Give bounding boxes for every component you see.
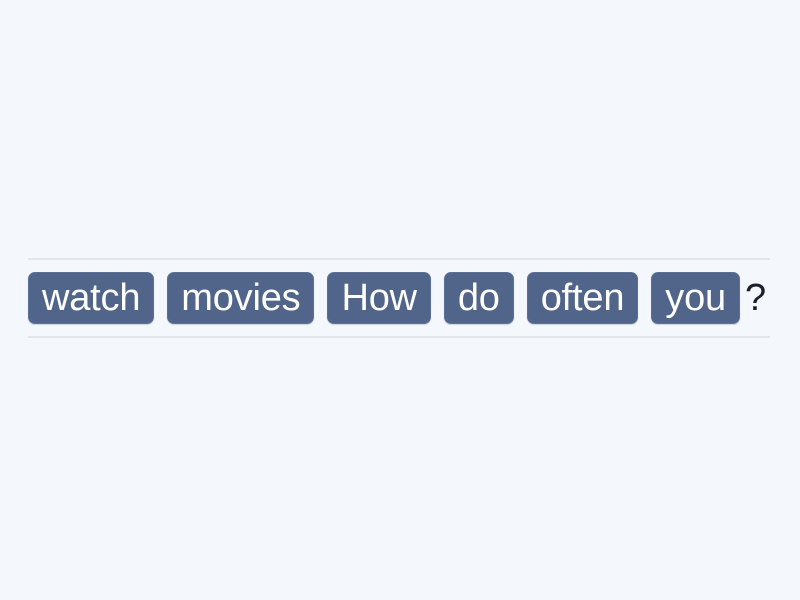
word-tile-3[interactable]: How	[327, 272, 430, 324]
word-tile-label: do	[458, 279, 500, 317]
word-tile-label: How	[341, 279, 416, 317]
exercise-page: watch movies How do often you ?	[0, 0, 800, 600]
sentence-answer-strip[interactable]: watch movies How do often you ?	[28, 258, 770, 338]
word-tile-label: movies	[181, 279, 300, 317]
word-tile-6[interactable]: you	[651, 272, 740, 324]
word-tile-4[interactable]: do	[444, 272, 514, 324]
word-tile-2[interactable]: movies	[167, 272, 314, 324]
trailing-punctuation: ?	[745, 272, 766, 324]
word-tile-label: watch	[42, 279, 140, 317]
word-tile-row: watch movies How do often you ?	[28, 272, 770, 324]
word-tile-label: you	[665, 279, 726, 317]
word-tile-1[interactable]: watch	[28, 272, 154, 324]
word-tile-label: often	[541, 279, 625, 317]
word-tile-5[interactable]: often	[527, 272, 639, 324]
